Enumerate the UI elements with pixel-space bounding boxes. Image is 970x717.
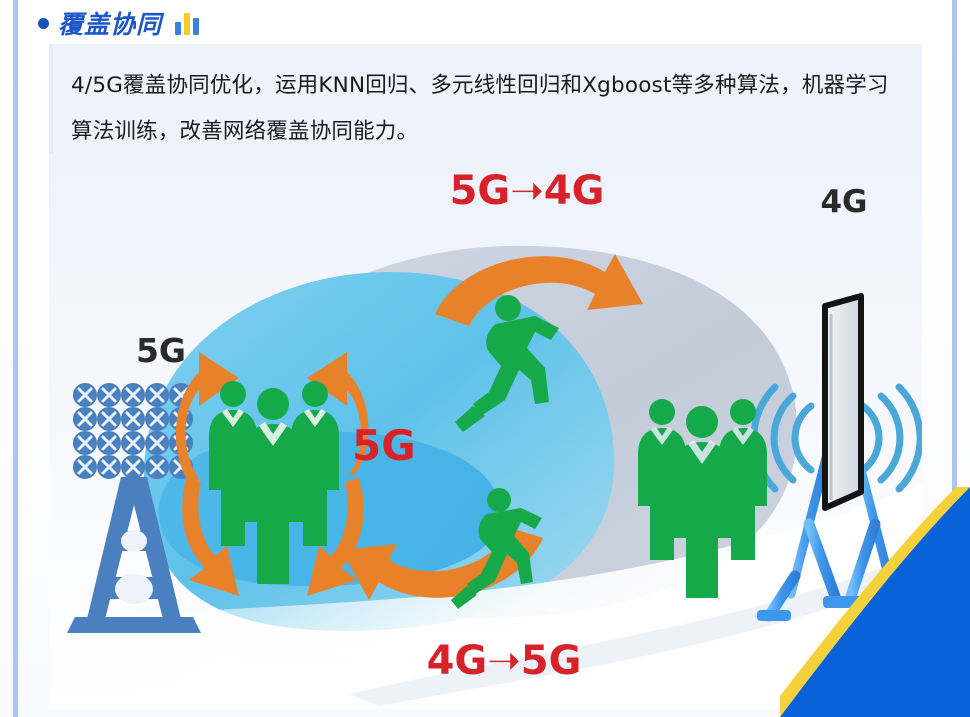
page-title: 覆盖协同 (58, 5, 162, 41)
bullet-dot-icon (38, 18, 49, 29)
content-panel: 4/5G覆盖协同优化，运用KNN回归、多元线性回归和Xgboost等多种算法，机… (49, 44, 922, 709)
body-paragraph: 4/5G覆盖协同优化，运用KNN回归、多元线性回归和Xgboost等多种算法，机… (71, 63, 907, 155)
tower-5g-label: 5G (136, 331, 186, 370)
bar-chart-icon (175, 11, 199, 35)
zone-5g-label: 5G (352, 421, 416, 470)
handover-in-label: 4G➝5G (427, 638, 582, 684)
handover-out-label: 5G➝4G (450, 168, 605, 214)
page-edge-rail-right (952, 0, 957, 717)
tower-4g-label: 4G (820, 184, 867, 220)
panel-antenna-4g (825, 296, 861, 508)
coverage-coordination-diagram: 5G (49, 154, 922, 709)
section-heading: 覆盖协同 (38, 4, 199, 42)
page-edge-rail-left (13, 0, 18, 717)
